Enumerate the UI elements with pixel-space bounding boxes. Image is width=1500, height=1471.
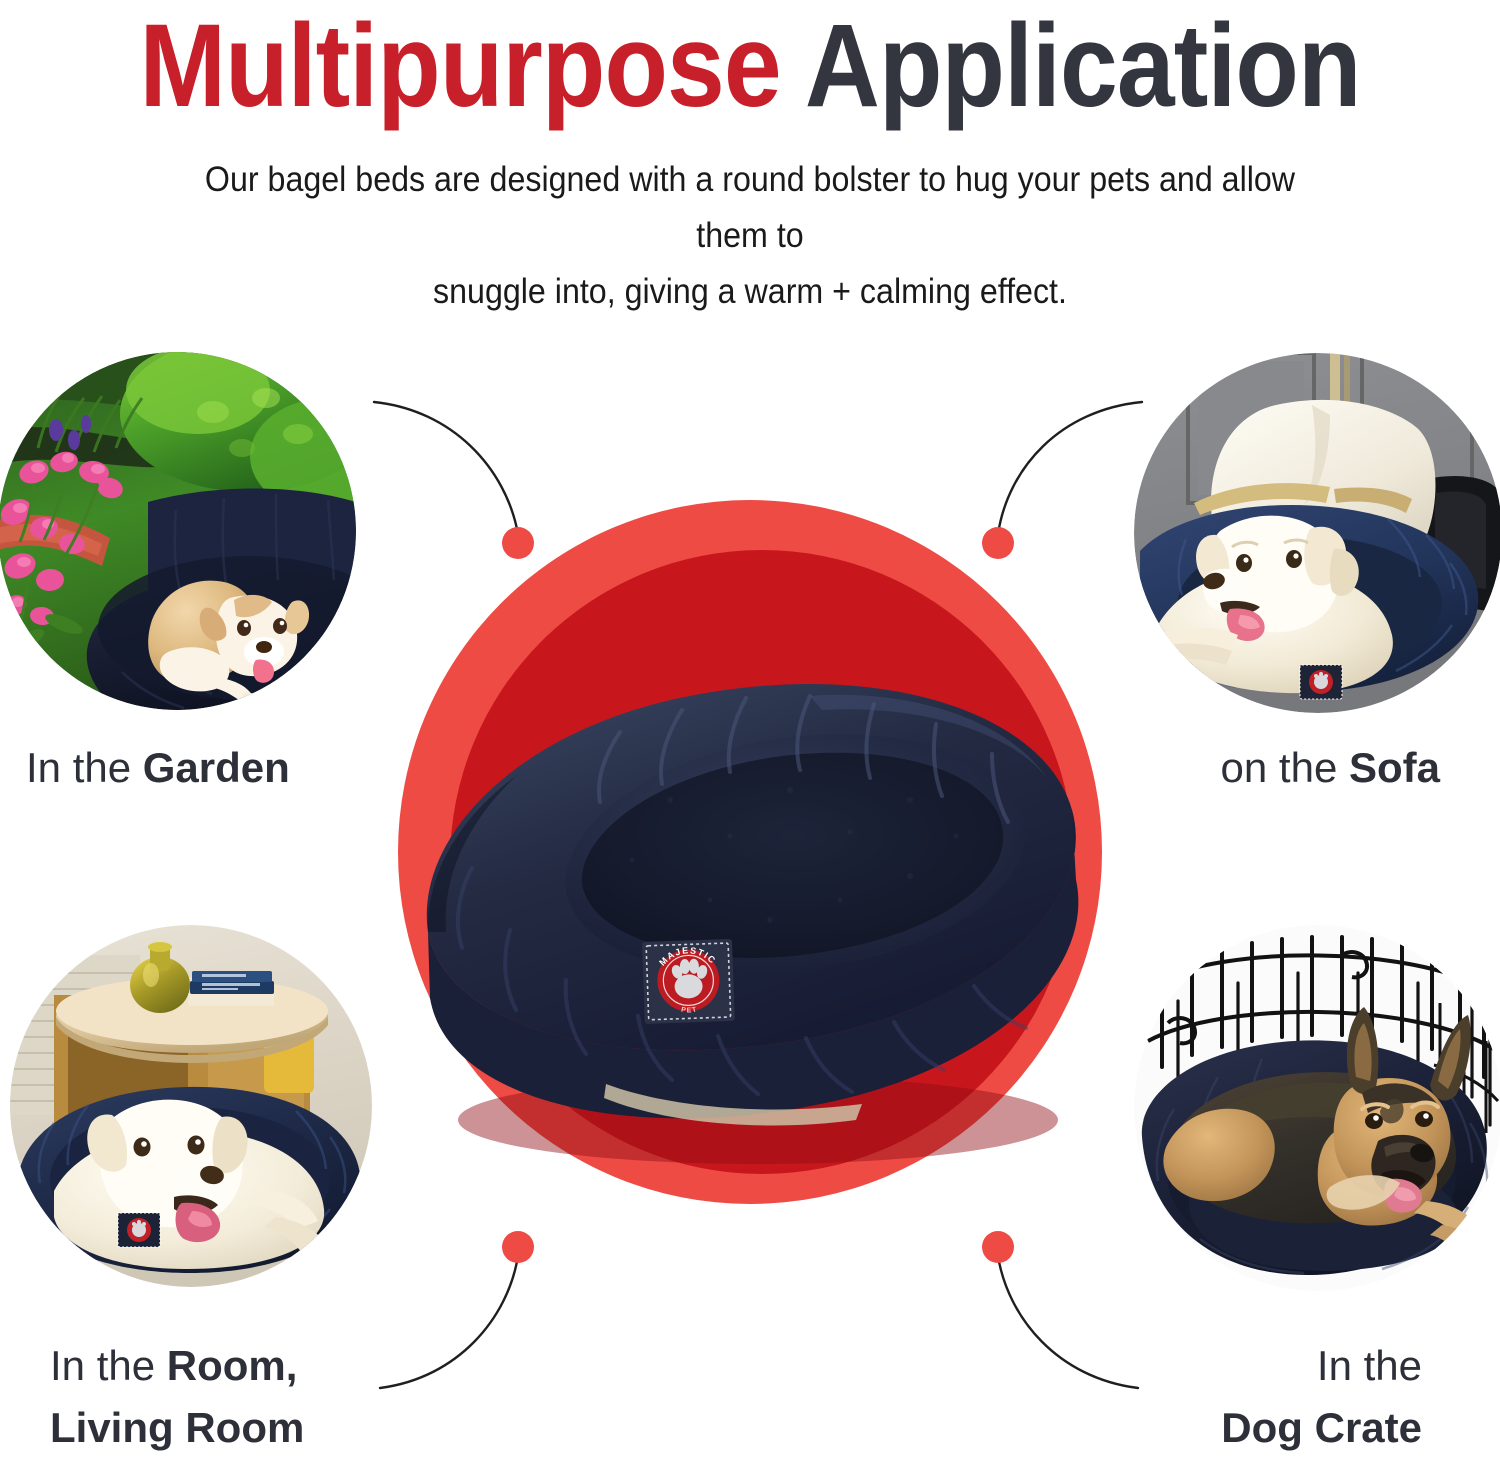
callout-label-sofa: on the Sofa bbox=[1221, 737, 1440, 799]
header: Multipurpose Application Our bagel beds … bbox=[0, 0, 1500, 320]
callout-label-crate-line2: Dog Crate bbox=[1221, 1397, 1422, 1459]
title-red-word: Multipurpose bbox=[139, 0, 780, 132]
callout-label-crate-prefix: In the bbox=[1317, 1342, 1422, 1389]
page-title: Multipurpose Application bbox=[90, 0, 1410, 126]
subtitle-line-1: Our bagel beds are designed with a round… bbox=[205, 160, 1295, 255]
callout-label-garden-bold: Garden bbox=[143, 744, 290, 791]
connector-line-crate bbox=[998, 1256, 1138, 1388]
callout-label-sofa-bold: Sofa bbox=[1349, 744, 1440, 791]
title-dark-word: Application bbox=[781, 0, 1361, 132]
callout-label-sofa-prefix: on the bbox=[1221, 744, 1349, 791]
callout-label-garden-prefix: In the bbox=[26, 744, 143, 791]
brand-tag: MAJESTIC PET bbox=[642, 939, 735, 1024]
callout-label-garden: In the Garden bbox=[26, 737, 290, 799]
callout-photo-sofa bbox=[1134, 353, 1500, 713]
callout-label-crate: In theDog Crate bbox=[1221, 1335, 1422, 1459]
subtitle: Our bagel beds are designed with a round… bbox=[60, 126, 1440, 320]
subtitle-line-2: snuggle into, giving a warm + calming ef… bbox=[433, 272, 1067, 311]
callout-label-room-bold: Room, bbox=[167, 1342, 298, 1389]
infographic-page: Multipurpose Application Our bagel beds … bbox=[0, 0, 1500, 1471]
center-product-graphic: MAJESTIC PET bbox=[370, 480, 1130, 1240]
callout-label-room-line2: Living Room bbox=[50, 1397, 304, 1459]
callout-photo-crate bbox=[1134, 925, 1500, 1291]
connector-line-room bbox=[380, 1256, 518, 1388]
callout-label-room: In the Room,Living Room bbox=[50, 1335, 304, 1459]
callout-photo-garden bbox=[0, 352, 356, 710]
callout-label-room-prefix: In the bbox=[50, 1342, 167, 1389]
callout-photo-room bbox=[10, 925, 372, 1287]
